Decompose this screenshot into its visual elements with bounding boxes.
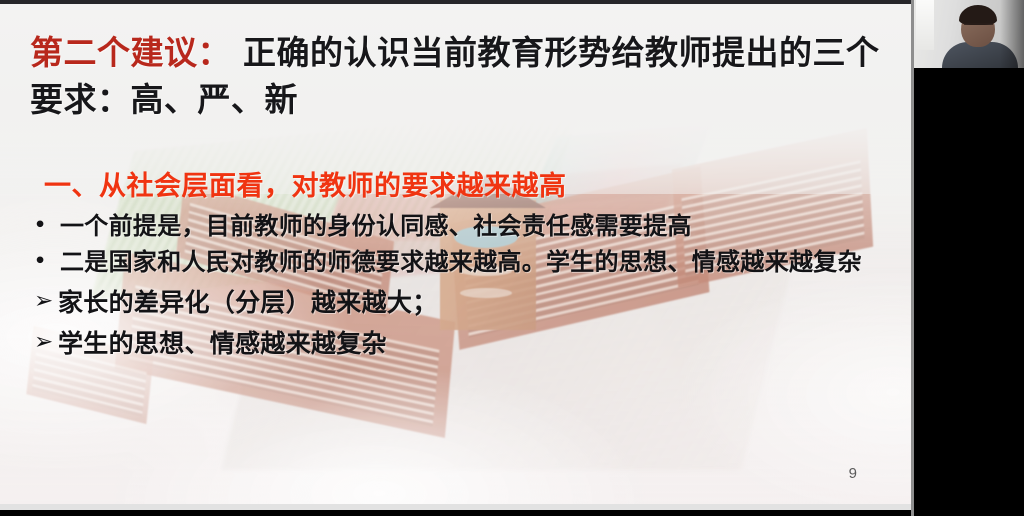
list-item-text: 家长的差异化（分层）越来越大；: [58, 285, 904, 320]
bullet-list: • 一个前提是，目前教师的身份认同感、社会责任感需要提高 • 二是国家和人民对教…: [34, 210, 904, 363]
slide-content: 第二个建议： 正确的认识当前教育形势给教师提出的三个要求：高、严、新 一、从社会…: [0, 4, 911, 510]
list-item: ➢ 学生的思想、情感越来越复杂: [34, 326, 904, 361]
section-heading: 一、从社会层面看，对教师的要求越来越高: [44, 164, 567, 203]
slide-page-number: 9: [849, 465, 857, 482]
bullet-dot-icon: •: [34, 246, 60, 277]
video-rail: [911, 0, 1024, 516]
list-item-text: 一个前提是，目前教师的身份认同感、社会责任感需要提高: [60, 210, 904, 244]
bullet-arrow-icon: ➢: [34, 285, 58, 317]
list-item-text: 学生的思想、情感越来越复杂: [58, 326, 904, 361]
slide-title-accent: 第二个建议：: [30, 33, 231, 72]
bullet-arrow-icon: ➢: [34, 326, 58, 358]
video-rail-empty-area[interactable]: [914, 68, 1024, 516]
presentation-screen: 第二个建议： 正确的认识当前教育形势给教师提出的三个要求：高、严、新 一、从社会…: [0, 0, 1024, 516]
list-item: • 二是国家和人民对教师的师德要求越来越高。学生的思想、情感越来越复杂: [34, 246, 904, 280]
list-item: • 一个前提是，目前教师的身份认同感、社会责任感需要提高: [34, 210, 904, 244]
bullet-dot-icon: •: [34, 210, 60, 241]
video-background-window: [916, 0, 934, 50]
slide-area[interactable]: 第二个建议： 正确的认识当前教育形势给教师提出的三个要求：高、严、新 一、从社会…: [0, 4, 911, 510]
participant-video-tile[interactable]: [914, 0, 1024, 68]
glasses-icon: [964, 23, 993, 32]
slide-bottom-strip: [0, 504, 911, 510]
screen-top-edge: [0, 0, 911, 4]
video-vignette: [1000, 0, 1024, 68]
list-item: ➢ 家长的差异化（分层）越来越大；: [34, 285, 904, 320]
slide-title: 第二个建议： 正确的认识当前教育形势给教师提出的三个要求：高、严、新: [30, 30, 890, 124]
list-item-text: 二是国家和人民对教师的师德要求越来越高。学生的思想、情感越来越复杂: [60, 246, 904, 280]
